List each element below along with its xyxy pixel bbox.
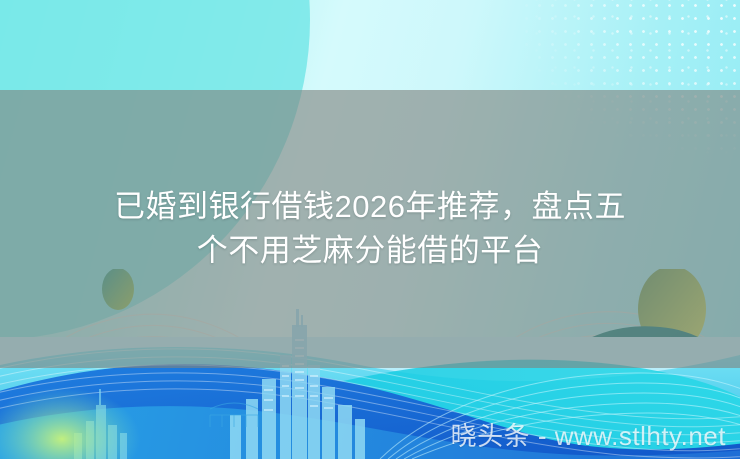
small-balloon xyxy=(102,269,134,310)
poster-canvas: 已婚到银行借钱2026年推荐，盘点五 个不用芝麻分能借的平台 晓头条 - www… xyxy=(0,0,740,459)
title-line-1: 已婚到银行借钱2026年推荐，盘点五 xyxy=(30,185,710,229)
site-watermark: 晓头条 - www.stlhty.net xyxy=(451,421,726,451)
poster-title: 已婚到银行借钱2026年推荐，盘点五 个不用芝麻分能借的平台 xyxy=(0,185,740,273)
title-line-2: 个不用芝麻分能借的平台 xyxy=(30,229,710,273)
dot-pattern-decoration xyxy=(520,0,740,156)
